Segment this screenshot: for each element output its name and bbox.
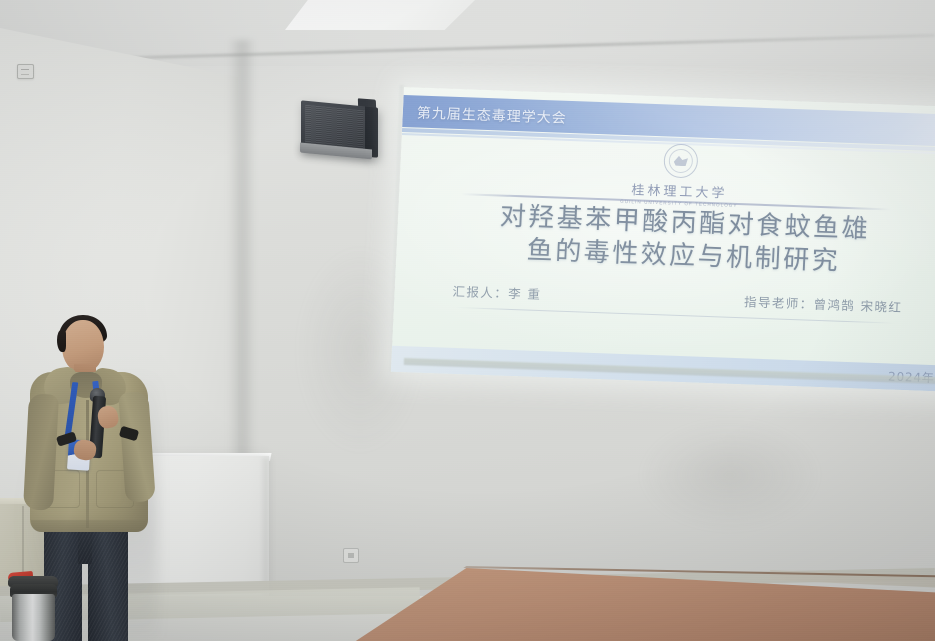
- wall-sensor-icon: [17, 64, 34, 79]
- university-name-cn: 桂林理工大学: [631, 179, 728, 201]
- presenter-leg-right: [88, 524, 128, 641]
- slide-presenter-label: 汇报人：李 重: [452, 281, 542, 303]
- presenter-arm-left: [23, 393, 59, 510]
- wall-texture-patch: [640, 420, 820, 530]
- thermos-body: [12, 594, 55, 641]
- presentation-room-photo: 第九届生态毒理学大会 桂林理工大学 GUILIN UNIVERSITY OF T…: [0, 0, 935, 641]
- presenter-jacket-hem: [31, 520, 147, 532]
- presenter-hair-side: [57, 330, 66, 352]
- speaker-grille-icon: [305, 105, 366, 150]
- university-seal-icon: [663, 143, 699, 178]
- slide-credits: 汇报人：李 重 指导老师：曾鸿鹄 宋晓红: [452, 281, 903, 316]
- slide-advisor-label: 指导老师：曾鸿鹄 宋晓红: [744, 291, 903, 316]
- slide-banner-title: 第九届生态毒理学大会: [416, 102, 567, 127]
- ceiling-light-panel: [285, 0, 475, 30]
- power-outlet-icon: [343, 548, 359, 563]
- projected-slide: 第九届生态毒理学大会 桂林理工大学 GUILIN UNIVERSITY OF T…: [391, 87, 935, 392]
